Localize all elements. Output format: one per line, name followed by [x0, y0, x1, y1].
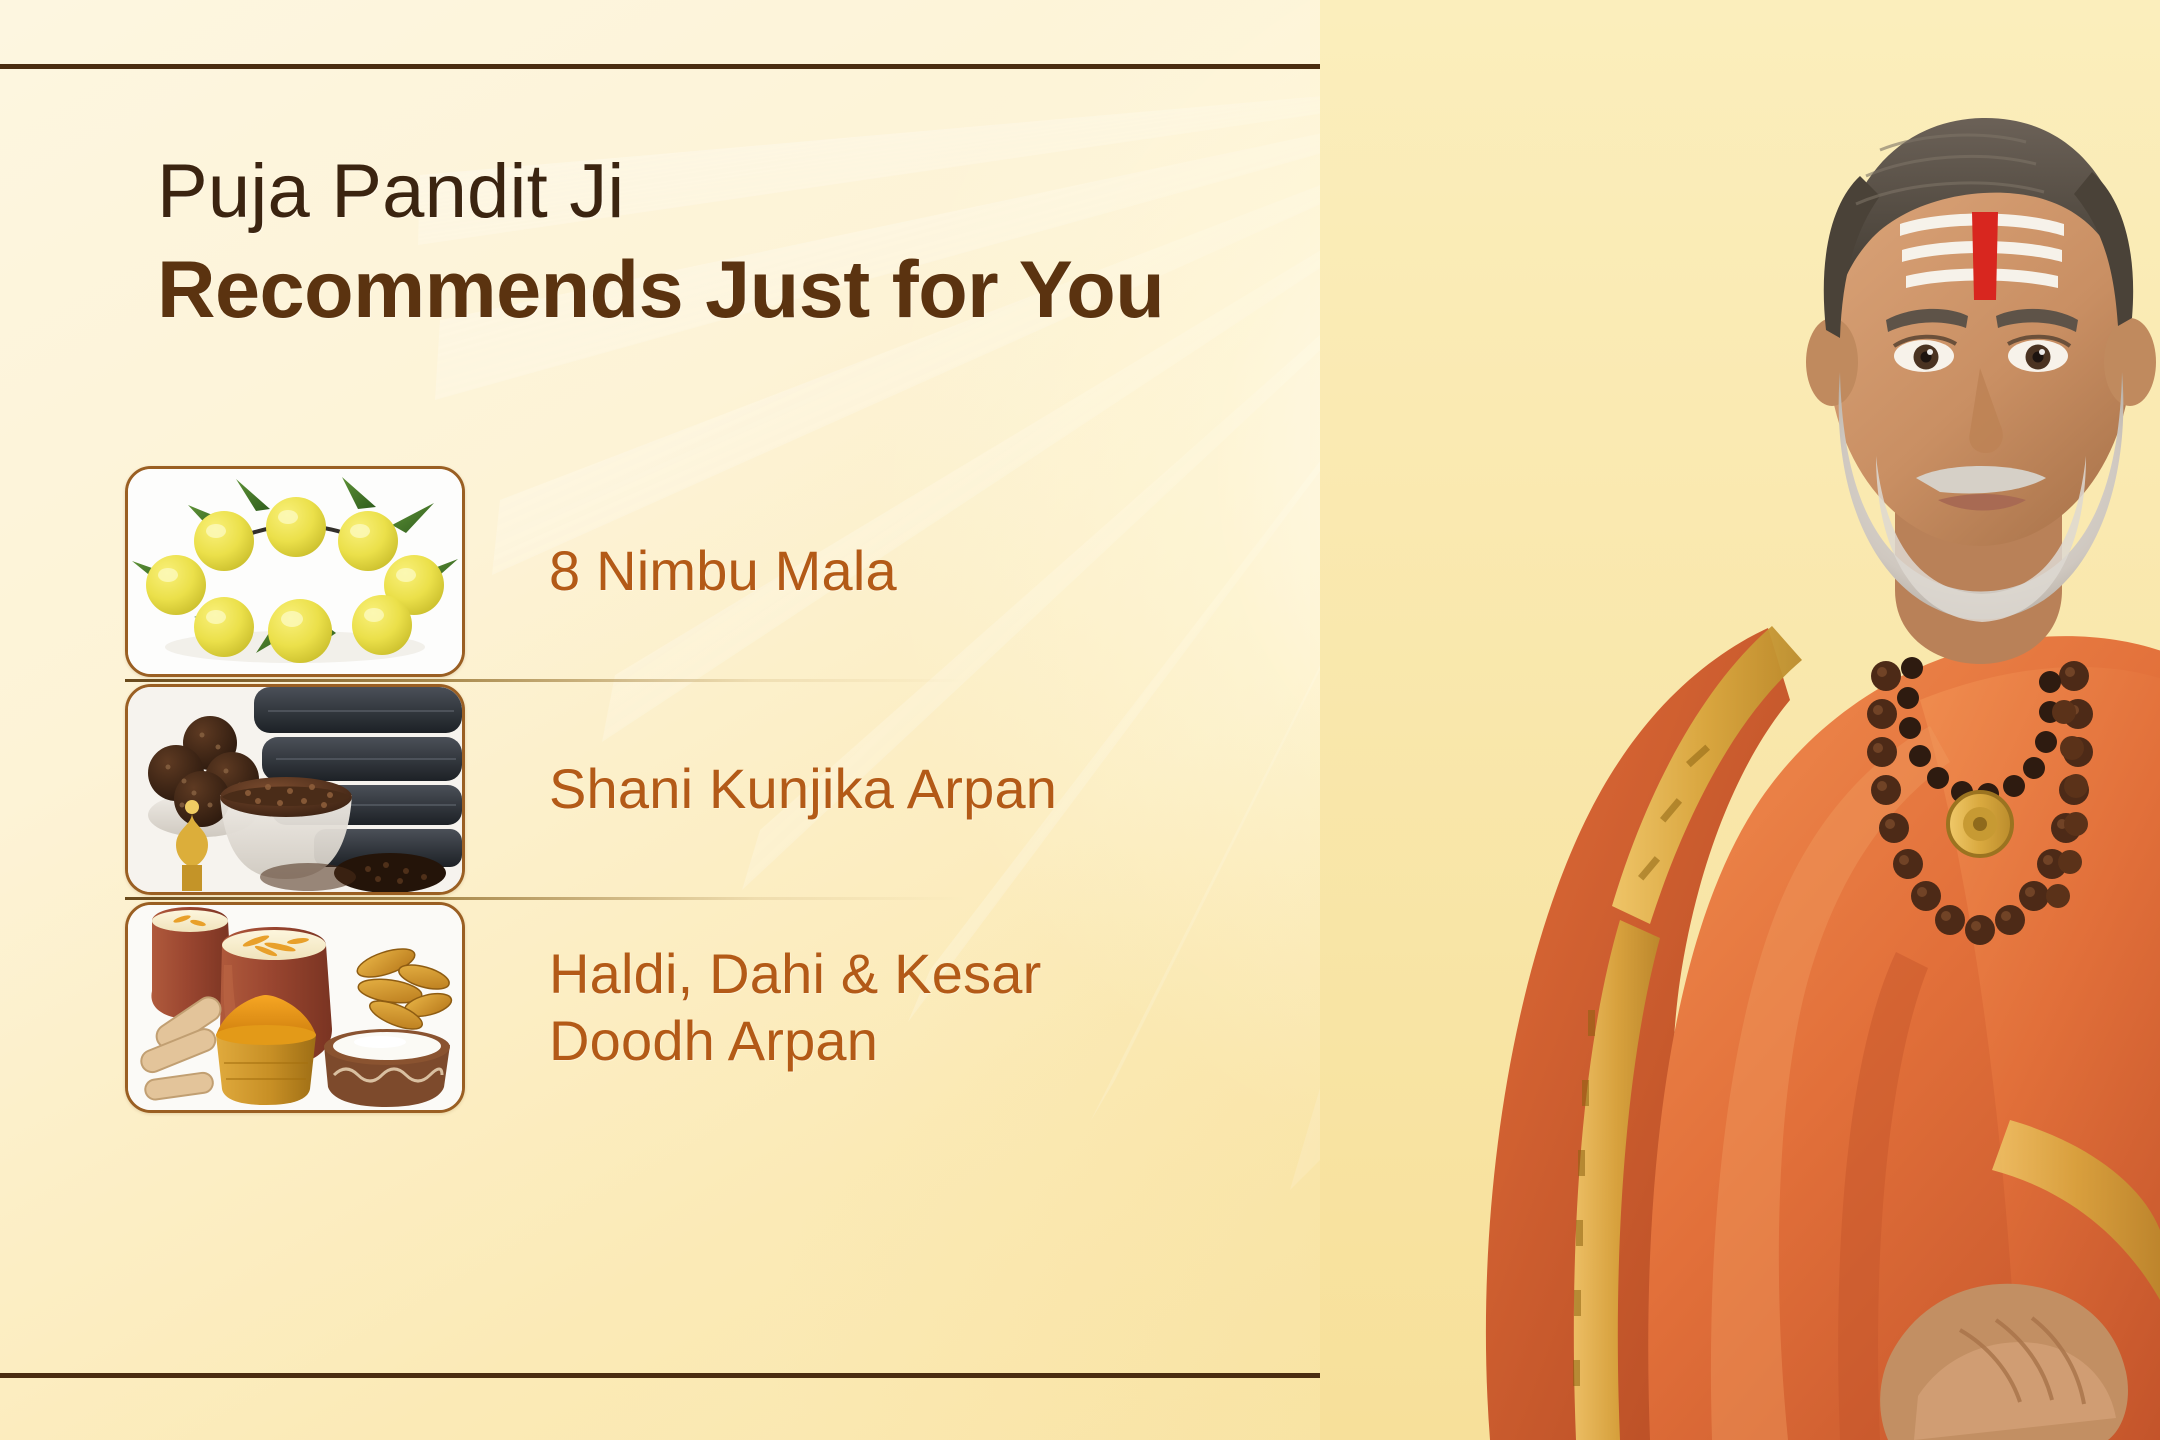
- list-item-label: 8 Nimbu Mala: [465, 538, 897, 604]
- pandit-ji-portrait: [1320, 0, 2160, 1440]
- page-title-line2: Recommends Just for You: [157, 250, 1257, 331]
- list-item[interactable]: 8 Nimbu Mala: [125, 464, 1205, 679]
- list-item-label: Haldi, Dahi & Kesar Doodh Arpan: [465, 941, 1205, 1073]
- headline-block: Puja Pandit Ji Recommends Just for You: [157, 154, 1257, 331]
- list-item[interactable]: Haldi, Dahi & Kesar Doodh Arpan: [125, 900, 1205, 1115]
- list-item[interactable]: Shani Kunjika Arpan: [125, 682, 1205, 897]
- recommendation-list: 8 Nimbu Mala: [125, 464, 1205, 1115]
- list-item-label: Shani Kunjika Arpan: [465, 756, 1057, 822]
- content-column: Puja Pandit Ji Recommends Just for You: [0, 64, 1260, 1378]
- nimbu-mala-thumbnail[interactable]: [125, 466, 465, 677]
- recommendation-banner: Puja Pandit Ji Recommends Just for You: [0, 0, 2160, 1440]
- page-title-line1: Puja Pandit Ji: [157, 154, 1257, 230]
- haldi-dahi-kesar-thumbnail[interactable]: [125, 902, 465, 1113]
- shani-kunjika-thumbnail[interactable]: [125, 684, 465, 895]
